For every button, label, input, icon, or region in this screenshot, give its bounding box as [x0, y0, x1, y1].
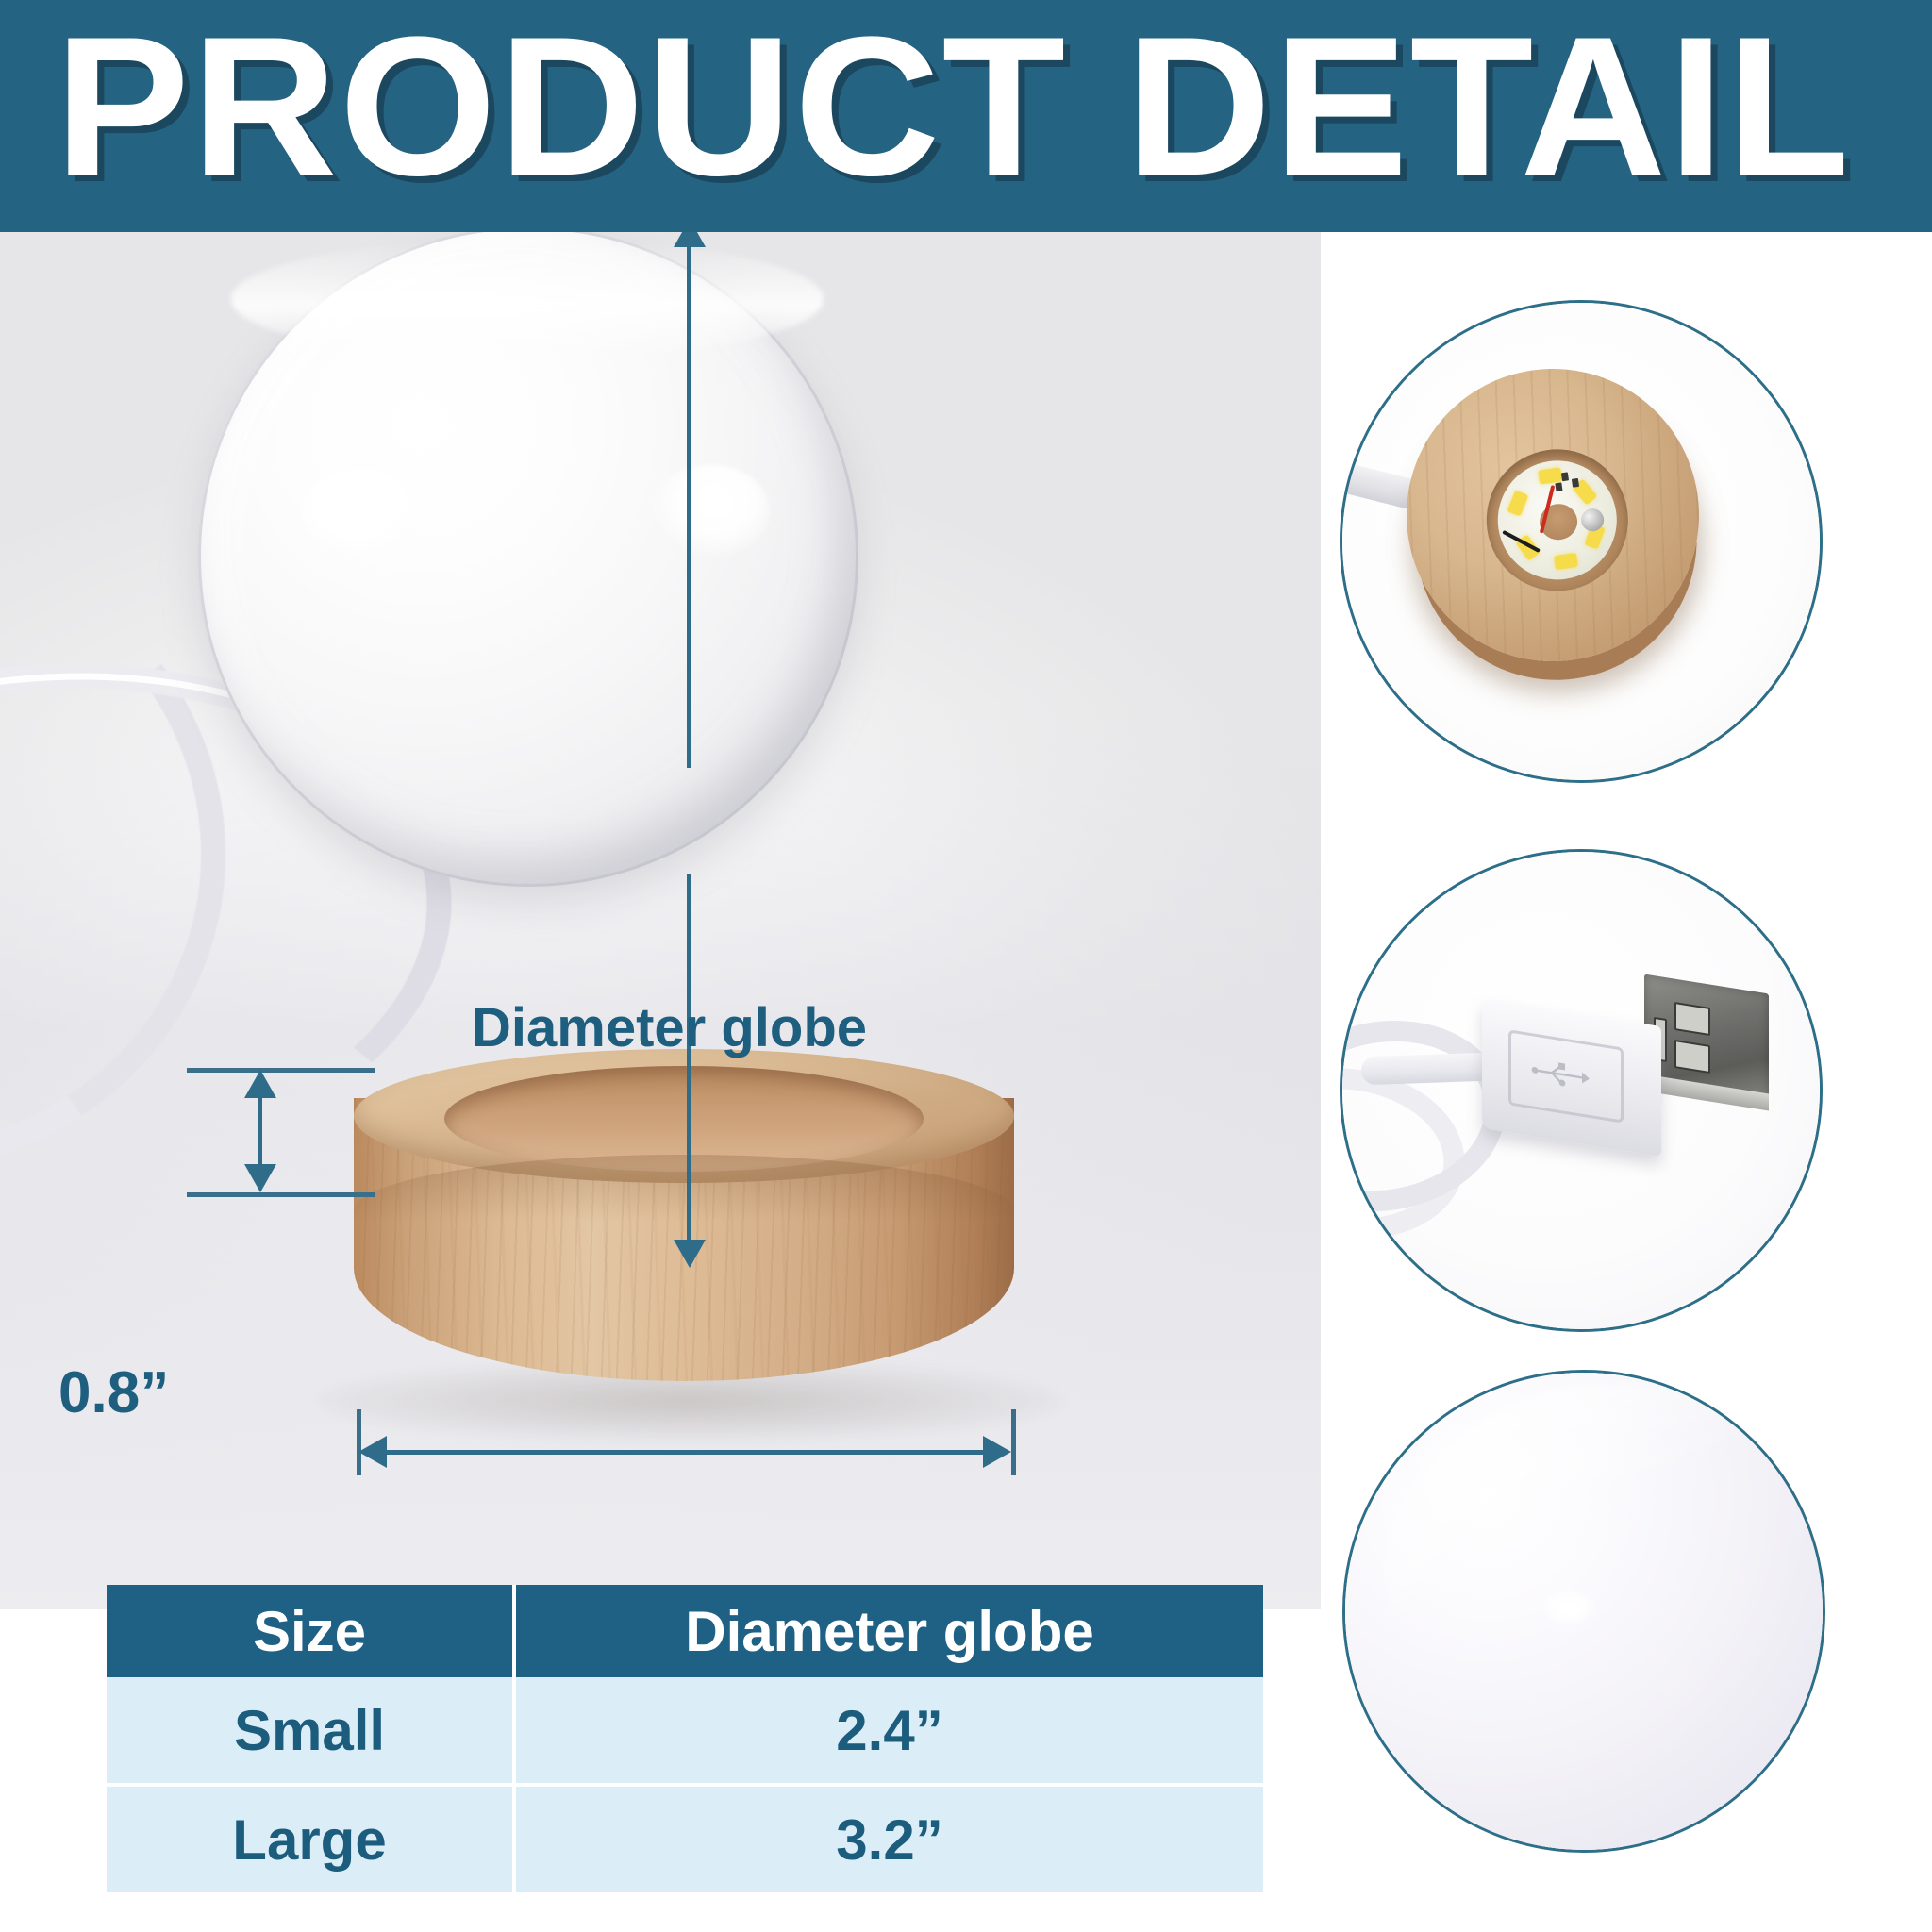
- smd-component: [1555, 482, 1562, 491]
- inset-globe-surface: [1342, 1370, 1825, 1853]
- inset-usb-connector: [1340, 849, 1823, 1332]
- height-arrow-bottom: [244, 1164, 276, 1192]
- column-header-size: Size: [107, 1585, 514, 1677]
- width-arrow-right: [983, 1436, 1011, 1468]
- globe-top-highlight: [231, 238, 824, 360]
- smd-component: [1572, 478, 1579, 488]
- column-header-diameter: Diameter globe: [514, 1585, 1263, 1677]
- header-banner: PRODUCT DETAIL: [0, 0, 1932, 232]
- smd-component: [1561, 472, 1569, 481]
- usb-contact: [1674, 1040, 1710, 1074]
- table-header-row: Size Diameter globe: [107, 1585, 1263, 1677]
- diameter-line-lower: [687, 874, 691, 1251]
- cell-size-small: Small: [107, 1677, 514, 1785]
- globe-surface-specular: [1560, 1601, 1579, 1616]
- cell-size-large: Large: [107, 1785, 514, 1892]
- inset-led-base: [1340, 300, 1823, 783]
- width-tick-right: [1011, 1409, 1016, 1475]
- cell-diameter-large: 3.2”: [514, 1785, 1263, 1892]
- usb-contact: [1674, 1002, 1710, 1036]
- height-tick-bottom: [187, 1192, 375, 1197]
- base-height-label: 0.8”: [58, 1359, 169, 1426]
- led-chip: [1507, 491, 1528, 517]
- width-line: [381, 1450, 987, 1455]
- globe-specular-left: [332, 489, 368, 521]
- page-title: PRODUCT DETAIL: [55, 8, 1852, 206]
- led-chip: [1554, 553, 1578, 570]
- table-row: Small 2.4”: [107, 1677, 1263, 1785]
- diameter-label: Diameter globe: [472, 996, 867, 1059]
- wooden-led-base: [354, 1049, 1014, 1424]
- diameter-line-upper: [687, 245, 691, 768]
- product-photo-stage: Diameter globe 0.8” 3.2”: [0, 232, 1321, 1609]
- size-table: Size Diameter globe Small 2.4” Large 3.2…: [107, 1585, 1263, 1892]
- height-tick-top: [187, 1068, 375, 1073]
- cell-diameter-small: 2.4”: [514, 1677, 1263, 1785]
- globe-specular-right: [700, 485, 732, 513]
- table-row: Large 3.2”: [107, 1785, 1263, 1892]
- diameter-arrow-bottom: [674, 1240, 706, 1268]
